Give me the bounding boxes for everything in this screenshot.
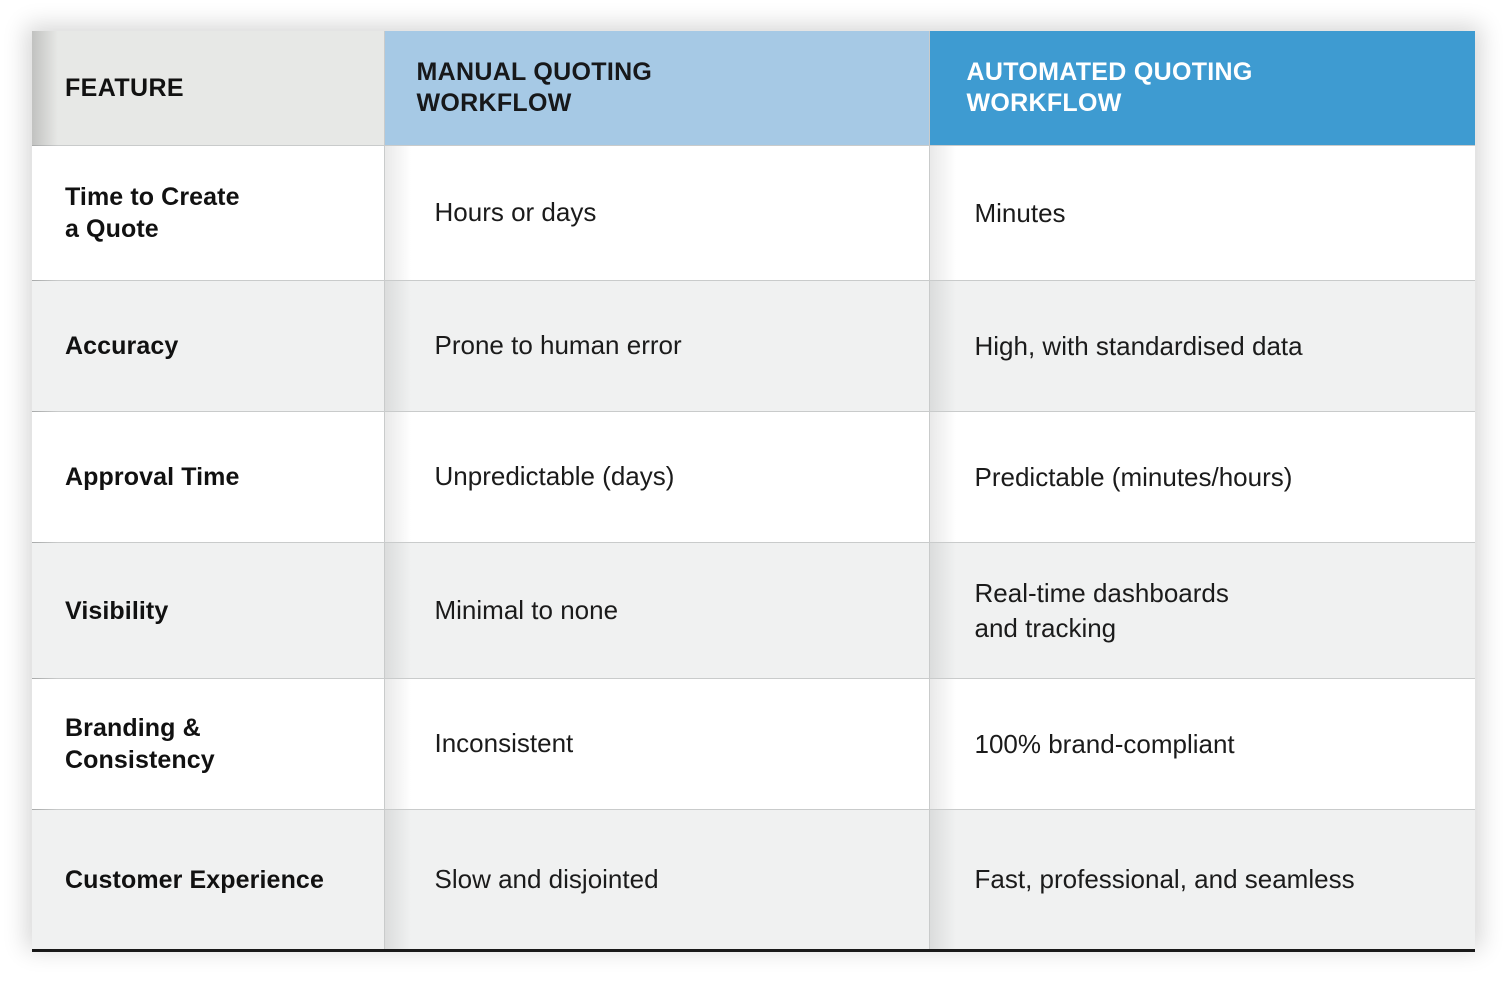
cell-feature-line1: Approval Time (65, 461, 240, 493)
cell-manual: Unpredictable (days) (384, 412, 929, 543)
column-header-auto-label-line2: WORKFLOW (967, 89, 1122, 117)
cell-feature: Time to Create a Quote (32, 146, 384, 281)
table-header: FEATURE MANUAL QUOTING WORKFLOW (32, 31, 1475, 146)
cell-automated-value: High, with standardised data (975, 329, 1303, 364)
cell-feature: Accuracy (32, 281, 384, 412)
cell-feature-line1: Branding & (65, 714, 201, 742)
cell-manual-value: Minimal to none (435, 594, 619, 628)
cell-automated-value-line1: Real-time dashboards (975, 578, 1229, 608)
cell-feature: Customer Experience (32, 810, 384, 951)
cell-manual-value: Slow and disjointed (435, 863, 659, 897)
comparison-table: FEATURE MANUAL QUOTING WORKFLOW (32, 31, 1475, 952)
column-header-manual-label-line1: MANUAL QUOTING (417, 58, 653, 86)
cell-feature-line1: Time to Create (65, 183, 240, 211)
column-header-manual-label-line2: WORKFLOW (417, 89, 572, 117)
cell-automated-value-line2: and tracking (975, 613, 1117, 643)
cell-automated: Minutes (929, 146, 1475, 281)
column-header-manual-quoting-workflow: MANUAL QUOTING WORKFLOW (384, 31, 929, 146)
cell-manual: Inconsistent (384, 679, 929, 810)
table-body: Time to Create a Quote Hours or days Min… (32, 146, 1475, 951)
cell-automated-value: 100% brand-compliant (975, 727, 1235, 762)
column-header-automated-quoting-workflow: AUTOMATED QUOTING WORKFLOW (929, 31, 1475, 146)
cell-automated-value: Minutes (975, 196, 1066, 231)
column-header-auto-label-line1: AUTOMATED QUOTING (967, 58, 1253, 86)
cell-manual-value: Inconsistent (435, 727, 574, 761)
cell-feature-line1: Customer Experience (65, 864, 324, 896)
table-row: Branding & Consistency Inconsistent 100%… (32, 679, 1475, 810)
cell-manual-value: Prone to human error (435, 329, 682, 363)
column-header-feature-label: FEATURE (65, 73, 184, 104)
cell-automated-value: Fast, professional, and seamless (975, 862, 1355, 897)
cell-manual-value: Unpredictable (days) (435, 460, 675, 494)
cell-automated: Real-time dashboards and tracking (929, 543, 1475, 679)
cell-manual: Slow and disjointed (384, 810, 929, 951)
cell-feature-line1: Visibility (65, 595, 168, 627)
cell-feature-line2: a Quote (65, 215, 159, 243)
cell-automated: 100% brand-compliant (929, 679, 1475, 810)
cell-feature: Approval Time (32, 412, 384, 543)
table-row: Accuracy Prone to human error High, with… (32, 281, 1475, 412)
cell-automated: High, with standardised data (929, 281, 1475, 412)
cell-feature: Visibility (32, 543, 384, 679)
header-row: FEATURE MANUAL QUOTING WORKFLOW (32, 31, 1475, 146)
cell-manual-value: Hours or days (435, 196, 597, 230)
table-row: Time to Create a Quote Hours or days Min… (32, 146, 1475, 281)
cell-feature-line2: Consistency (65, 746, 215, 774)
table-row: Approval Time Unpredictable (days) Predi… (32, 412, 1475, 543)
cell-manual: Prone to human error (384, 281, 929, 412)
table-row: Visibility Minimal to none Real-time das… (32, 543, 1475, 679)
cell-feature-line1: Accuracy (65, 330, 178, 362)
cell-automated: Predictable (minutes/hours) (929, 412, 1475, 543)
cell-feature: Branding & Consistency (32, 679, 384, 810)
table-row: Customer Experience Slow and disjointed … (32, 810, 1475, 951)
cell-manual: Hours or days (384, 146, 929, 281)
cell-automated-value: Predictable (minutes/hours) (975, 460, 1293, 495)
column-header-feature: FEATURE (32, 31, 384, 146)
cell-automated: Fast, professional, and seamless (929, 810, 1475, 951)
page-canvas: FEATURE MANUAL QUOTING WORKFLOW (0, 0, 1508, 999)
cell-manual: Minimal to none (384, 543, 929, 679)
